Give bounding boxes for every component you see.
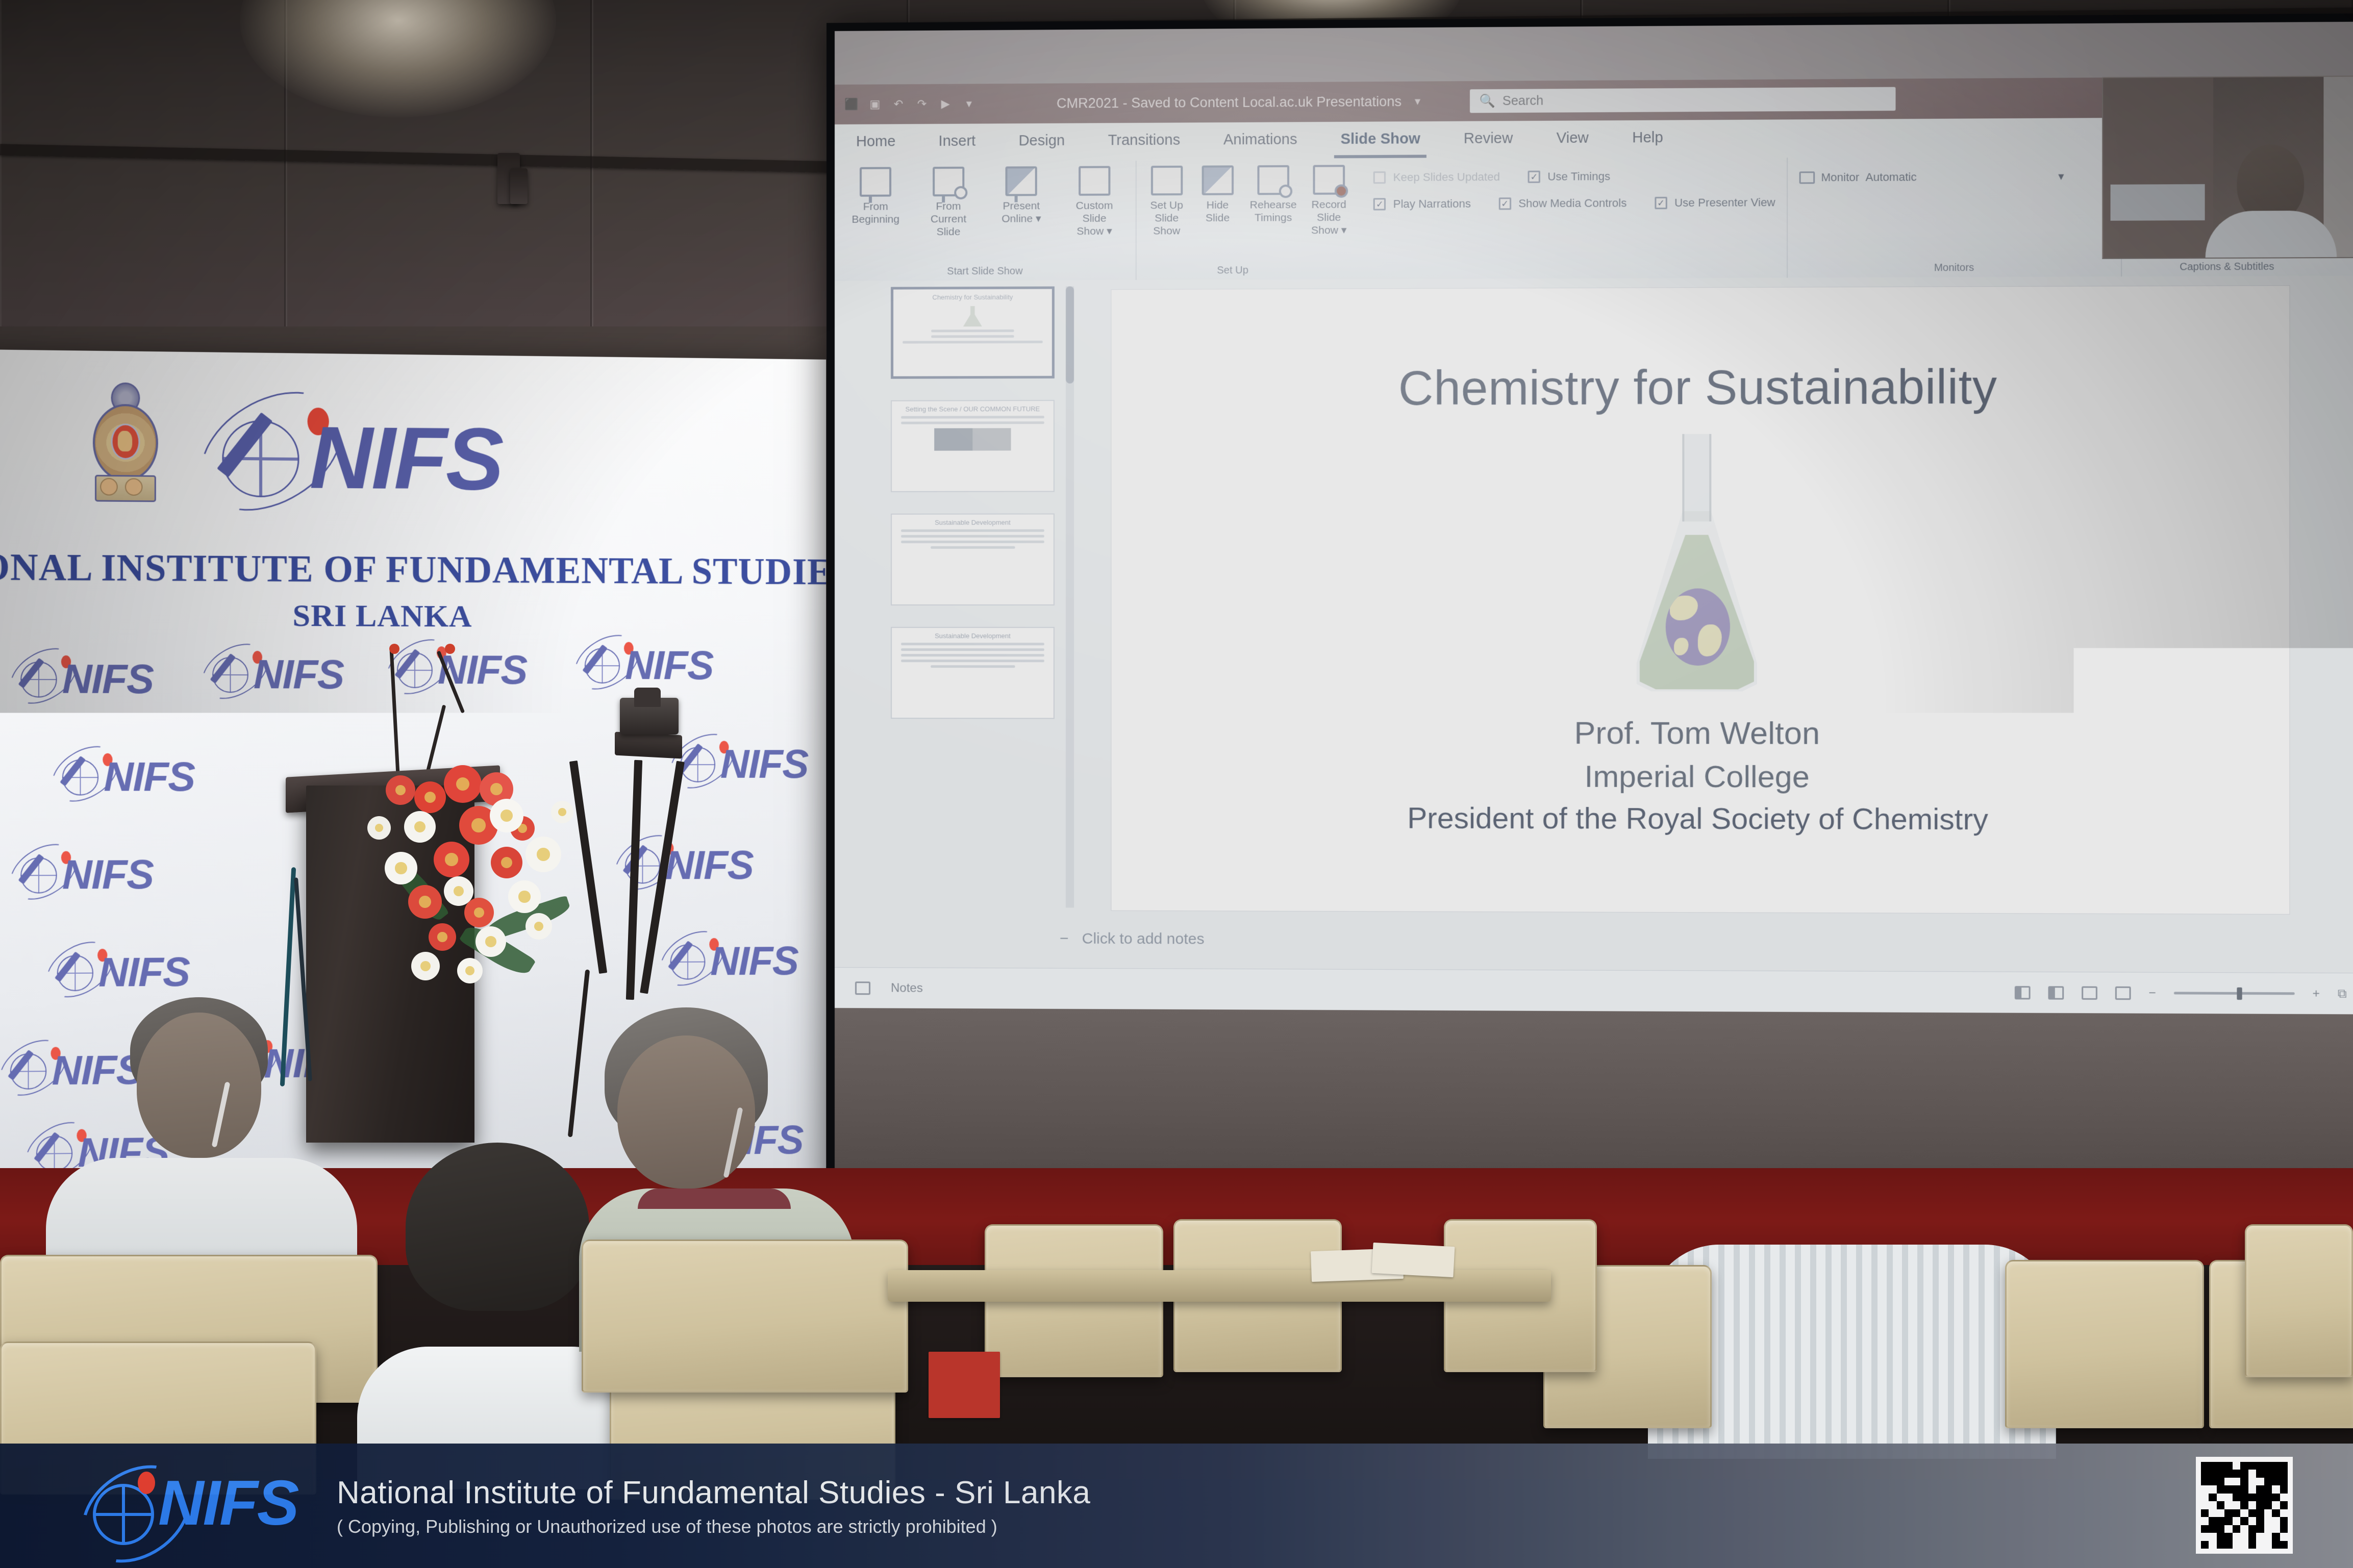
from-beginning-line1: From	[852, 200, 899, 213]
nifs-watermark-tile: NIFS	[666, 735, 791, 790]
redo-icon[interactable]: ↷	[914, 96, 930, 112]
microphone-left-head	[389, 644, 399, 654]
save-icon[interactable]: ▣	[867, 96, 883, 112]
slide-show-view-button[interactable]	[2115, 986, 2131, 999]
nifs-watermark-tile: NIFS	[570, 636, 696, 692]
present-online-line1: Present	[1002, 200, 1041, 213]
notes-placeholder[interactable]: Click to add notes	[1082, 930, 1205, 948]
slide-thumbnail-3[interactable]: Sustainable Development	[891, 514, 1055, 605]
custom-slide-show-button[interactable]: Custom Slide Show ▾	[1064, 166, 1124, 238]
projected-window-chrome	[835, 21, 2353, 84]
our-common-future-logo-icon	[934, 428, 1011, 450]
ribbon-tab-list: Home Insert Design Transitions Animation…	[850, 125, 1669, 161]
hide-slide-line1: Hide	[1206, 199, 1230, 212]
powerpoint-workspace: Chemistry for Sustainability Setting the…	[835, 275, 2353, 973]
search-input[interactable]: Search	[1503, 93, 1543, 109]
flask-with-globe-icon	[1619, 434, 1774, 702]
use-timings-label: Use Timings	[1547, 170, 1610, 184]
more-icon[interactable]: ▾	[961, 96, 977, 111]
monitor-selector[interactable]: Monitor Automatic ▾	[1799, 170, 2064, 185]
group-label-monitors: Monitors	[1799, 259, 2110, 275]
custom-show-line2: Show ▾	[1064, 225, 1124, 238]
search-icon: 🔍	[1479, 93, 1495, 108]
hide-slide-line2: Slide	[1206, 212, 1230, 224]
keep-slides-updated-checkbox[interactable]: Keep Slides Updated	[1373, 170, 1500, 184]
watermark-footer: NIFS National Institute of Fundamental S…	[0, 1444, 2353, 1568]
chevron-down-icon[interactable]: ▾	[2058, 170, 2064, 183]
tab-insert[interactable]: Insert	[933, 129, 982, 160]
notes-icon[interactable]	[855, 981, 870, 995]
projection-screen: ⬛ ▣ ↶ ↷ ▶ ▾ CMR2021 - Saved to Content L…	[827, 13, 2353, 1213]
slide-role: President of the Royal Society of Chemis…	[1407, 801, 1988, 837]
nifs-watermark-tile: NIFS	[198, 645, 327, 701]
from-current-line2: Current Slide	[919, 213, 979, 239]
zoom-in-button[interactable]: +	[2313, 987, 2320, 1001]
ceiling-speaker	[510, 168, 528, 204]
notes-pane[interactable]: − Click to add notes	[1060, 918, 2295, 964]
thumb-flask-icon	[961, 306, 984, 326]
group-label-captions: Captions & Subtitles	[2134, 258, 2320, 273]
slide-title: Chemistry for Sustainability	[1398, 359, 1997, 416]
keep-slides-updated-label: Keep Slides Updated	[1393, 170, 1500, 184]
slide-canvas[interactable]: Chemistry for Sustainability Prof. T	[1111, 285, 2290, 915]
chair	[2005, 1260, 2204, 1428]
conference-hall-photo: NIFS IONAL INSTITUTE OF FUNDAMENTAL STUD…	[0, 0, 2353, 1568]
notes-label[interactable]: Notes	[891, 981, 923, 995]
scrollbar-thumb[interactable]	[1066, 286, 1074, 384]
rehearse-line1: Rehearse	[1250, 199, 1297, 212]
nifs-watermark-tile: NIFS	[656, 931, 781, 988]
autosave-toggle-icon[interactable]: ⬛	[844, 97, 859, 112]
document-title: CMR2021 - Saved to Content Local.ac.uk P…	[1057, 93, 1401, 111]
projected-powerpoint: ⬛ ▣ ↶ ↷ ▶ ▾ CMR2021 - Saved to Content L…	[835, 21, 2353, 1014]
thumb-2-title: Setting the Scene / OUR COMMON FUTURE	[896, 405, 1049, 413]
nifs-logo-icon: NIFS	[190, 393, 477, 513]
zoom-slider-knob[interactable]	[2237, 988, 2242, 1000]
record-slide-show-button[interactable]: Record Slide Show ▾	[1310, 165, 1348, 237]
ribbon-group-set-up: Set Up Slide Show Hide Slide	[1137, 158, 1788, 280]
record-line2: Show ▾	[1310, 224, 1348, 237]
play-narrations-checkbox[interactable]: ✓ Play Narrations	[1373, 197, 1471, 211]
use-presenter-view-checkbox[interactable]: ✓ Use Presenter View	[1655, 196, 1775, 210]
ribbon-group-start-slide-show: From Beginning From Current Slide	[835, 161, 1137, 281]
checkbox-box: ✓	[1655, 197, 1667, 209]
group-label-set-up: Set Up	[1148, 261, 1318, 276]
normal-view-button[interactable]	[2015, 986, 2031, 999]
footer-title: National Institute of Fundamental Studie…	[337, 1475, 1090, 1511]
tab-design[interactable]: Design	[1012, 129, 1071, 160]
remote-presenter-webcam[interactable]	[2102, 75, 2353, 259]
tab-view[interactable]: View	[1550, 125, 1595, 157]
slide-presenter-name: Prof. Tom Welton	[1574, 715, 1820, 752]
nifs-watermark-tile: NIFS	[42, 942, 172, 999]
present-online-line2: Online ▾	[1002, 213, 1041, 225]
monitor-label: Monitor	[1821, 171, 1859, 185]
camera-head	[615, 732, 682, 759]
thumb-3-title: Sustainable Development	[896, 519, 1049, 526]
set-up-line1: Set Up	[1148, 199, 1186, 212]
thumbnail-scrollbar[interactable]	[1066, 286, 1074, 907]
from-beginning-button[interactable]: From Beginning	[846, 167, 906, 226]
qr-code[interactable]	[2196, 1457, 2293, 1554]
custom-show-line1: Custom Slide	[1064, 199, 1124, 225]
slide-affiliation: Imperial College	[1584, 758, 1809, 794]
set-up-line2: Slide Show	[1148, 212, 1186, 238]
group-label-start-slide-show: Start Slide Show	[846, 262, 1124, 278]
slide-thumbnail-1[interactable]: Chemistry for Sustainability	[891, 286, 1055, 378]
checkbox-box: ✓	[1528, 171, 1540, 183]
monitor-icon	[1799, 171, 1815, 184]
title-dropdown-icon[interactable]: ▾	[1410, 94, 1425, 109]
slide-thumbnail-pane[interactable]: Chemistry for Sustainability Setting the…	[891, 286, 1060, 907]
sri-lanka-national-emblem-icon	[87, 379, 164, 503]
slide-thumbnail-2[interactable]: Setting the Scene / OUR COMMON FUTURE	[891, 400, 1055, 492]
play-narrations-label: Play Narrations	[1393, 197, 1471, 211]
collapse-notes-icon[interactable]: −	[1060, 930, 1069, 948]
thumb-1-title: Chemistry for Sustainability	[897, 293, 1048, 301]
checkbox-box: ✓	[1499, 197, 1511, 210]
thumb-4-title: Sustainable Development	[896, 632, 1049, 640]
tab-help[interactable]: Help	[1626, 125, 1669, 157]
banner-org-line2: SRI LANKA	[0, 596, 791, 636]
use-presenter-view-label: Use Presenter View	[1674, 196, 1775, 210]
monitor-value: Automatic	[1866, 170, 1917, 184]
zoom-out-button[interactable]: −	[2148, 986, 2156, 1000]
hide-slide-button[interactable]: Hide Slide	[1199, 165, 1237, 224]
nifs-watermark-tile: NIFS	[6, 649, 136, 706]
ribbon-group-monitors: Monitor Automatic ▾ Monitors	[1788, 156, 2122, 277]
footer-logo-text: NIFS	[158, 1472, 298, 1535]
rehearse-line2: Timings	[1250, 212, 1297, 224]
tab-home[interactable]: Home	[850, 129, 902, 161]
paper-document	[929, 1352, 1000, 1418]
record-line1: Record Slide	[1310, 199, 1348, 224]
tab-slide-show[interactable]: Slide Show	[1334, 127, 1426, 158]
chair	[582, 1240, 908, 1393]
nifs-watermark-tile: NIFS	[0, 1040, 126, 1098]
tab-transitions[interactable]: Transitions	[1102, 128, 1187, 159]
checkbox-box: ✓	[1373, 198, 1386, 210]
paper-document	[1372, 1243, 1455, 1277]
show-media-controls-label: Show Media Controls	[1518, 196, 1626, 210]
camera-lens-icon	[634, 688, 661, 707]
tab-review[interactable]: Review	[1458, 126, 1519, 158]
checkbox-box	[1373, 171, 1386, 184]
present-online-button[interactable]: Present Online ▾	[991, 166, 1051, 225]
powerpoint-status-bar: Notes − + ⧉	[835, 967, 2353, 1014]
search-box[interactable]: 🔍 Search	[1470, 87, 1896, 113]
reading-view-button[interactable]	[2082, 986, 2097, 999]
present-icon[interactable]: ▶	[938, 96, 953, 112]
from-current-line1: From	[919, 200, 979, 213]
slide-sorter-view-button[interactable]	[2048, 986, 2064, 999]
nifs-watermark-tile: NIFS	[6, 845, 136, 902]
rehearse-timings-button[interactable]: Rehearse Timings	[1250, 165, 1297, 224]
from-beginning-line2: Beginning	[852, 213, 899, 226]
zoom-slider[interactable]	[2174, 992, 2295, 995]
slide-thumbnail-4[interactable]: Sustainable Development	[891, 627, 1055, 719]
use-timings-checkbox[interactable]: ✓ Use Timings	[1528, 170, 1610, 184]
set-up-slide-show-button[interactable]: Set Up Slide Show	[1148, 166, 1186, 238]
nifs-watermark-tile: NIFS	[47, 747, 177, 804]
fit-slide-button[interactable]: ⧉	[2338, 987, 2347, 1001]
undo-icon[interactable]: ↶	[891, 96, 906, 112]
tab-animations[interactable]: Animations	[1217, 127, 1304, 159]
microphone-right-head	[445, 644, 455, 654]
show-media-controls-checkbox[interactable]: ✓ Show Media Controls	[1499, 196, 1627, 210]
from-current-slide-button[interactable]: From Current Slide	[919, 167, 979, 239]
banner-org-line1: IONAL INSTITUTE OF FUNDAMENTAL STUDIES	[0, 546, 791, 594]
footer-copyright-notice: ( Copying, Publishing or Unauthorized us…	[337, 1516, 1090, 1537]
footer-nifs-logo-icon: NIFS	[61, 1457, 301, 1554]
chair	[2245, 1224, 2353, 1377]
